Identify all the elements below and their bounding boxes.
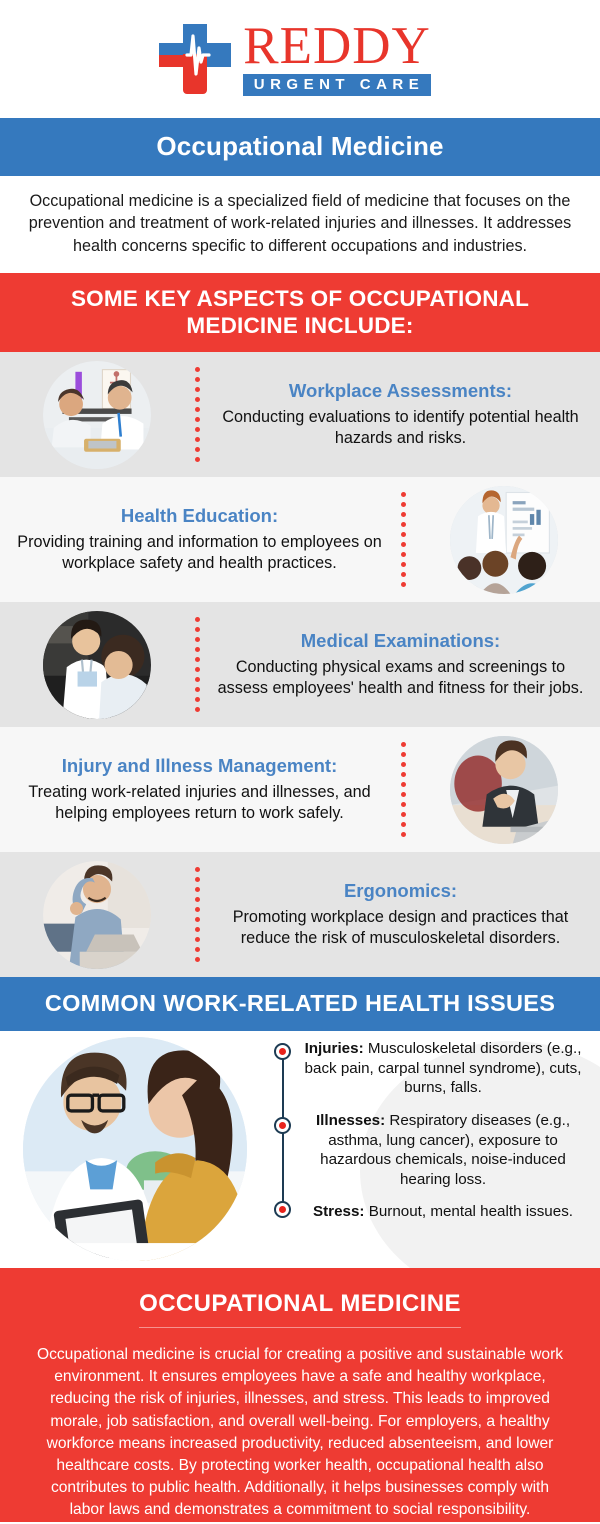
doctor-patient-consultation-photo bbox=[23, 1037, 247, 1261]
brand-name: REDDY bbox=[243, 22, 431, 72]
issues-photo-cell bbox=[0, 1031, 270, 1261]
issues-section-heading: COMMON WORK-RELATED HEALTH ISSUES bbox=[0, 977, 600, 1031]
issue-text: Burnout, mental health issues. bbox=[364, 1203, 573, 1220]
feature-text-cell: Medical Examinations: Conducting physica… bbox=[205, 630, 596, 699]
feature-photo-cell bbox=[411, 736, 596, 844]
feature-body: Promoting workplace design and practices… bbox=[211, 907, 590, 949]
intro-paragraph: Occupational medicine is a specialized f… bbox=[0, 176, 600, 273]
timeline-node-icon bbox=[274, 1043, 291, 1060]
health-education-photo bbox=[450, 486, 558, 594]
feature-photo-cell bbox=[411, 486, 596, 594]
feature-text-cell: Workplace Assessments: Conducting evalua… bbox=[205, 380, 596, 449]
dotted-divider bbox=[395, 490, 411, 590]
ekg-line-icon bbox=[157, 22, 233, 96]
feature-photo-cell bbox=[4, 361, 189, 469]
dotted-divider bbox=[395, 740, 411, 840]
issues-list: Injuries: Musculoskeletal disorders (e.g… bbox=[270, 1031, 600, 1236]
feature-row: Injury and Illness Management: Treating … bbox=[0, 727, 600, 852]
page-title: Occupational Medicine bbox=[0, 118, 600, 176]
feature-row: Medical Examinations: Conducting physica… bbox=[0, 602, 600, 727]
list-item: Stress: Burnout, mental health issues. bbox=[296, 1202, 590, 1221]
dotted-divider bbox=[189, 865, 205, 965]
injury-management-photo bbox=[450, 736, 558, 844]
issues-timeline bbox=[270, 1039, 296, 1236]
ergonomics-photo bbox=[43, 861, 151, 969]
issue-label: Illnesses: bbox=[316, 1112, 385, 1129]
feature-title: Health Education: bbox=[10, 505, 389, 527]
feature-title: Medical Examinations: bbox=[211, 630, 590, 652]
feature-photo-cell bbox=[4, 611, 189, 719]
header-logo-bar: REDDY URGENT CARE bbox=[0, 0, 600, 118]
feature-row: Workplace Assessments: Conducting evalua… bbox=[0, 352, 600, 477]
dotted-divider bbox=[189, 365, 205, 465]
timeline-node-icon bbox=[274, 1201, 291, 1218]
feature-text-cell: Health Education: Providing training and… bbox=[4, 505, 395, 574]
summary-section: OCCUPATIONAL MEDICINE Occupational medic… bbox=[0, 1268, 600, 1522]
feature-row: Health Education: Providing training and… bbox=[0, 477, 600, 602]
feature-row: Ergonomics: Promoting workplace design a… bbox=[0, 852, 600, 977]
dotted-divider bbox=[189, 615, 205, 715]
medical-cross-ekg-icon bbox=[157, 22, 233, 96]
brand-tagline: URGENT CARE bbox=[243, 74, 431, 96]
timeline-node-icon bbox=[274, 1117, 291, 1134]
feature-body: Conducting evaluations to identify poten… bbox=[211, 407, 590, 449]
summary-body: Occupational medicine is crucial for cre… bbox=[34, 1344, 566, 1521]
issue-label: Stress: bbox=[313, 1203, 365, 1220]
workplace-assessment-photo bbox=[43, 361, 151, 469]
feature-text-cell: Injury and Illness Management: Treating … bbox=[4, 755, 395, 824]
list-item: Illnesses: Respiratory diseases (e.g., a… bbox=[296, 1111, 590, 1189]
medical-examination-photo bbox=[43, 611, 151, 719]
summary-title: OCCUPATIONAL MEDICINE bbox=[139, 1290, 461, 1328]
feature-text-cell: Ergonomics: Promoting workplace design a… bbox=[205, 880, 596, 949]
list-item: Injuries: Musculoskeletal disorders (e.g… bbox=[296, 1039, 590, 1097]
issues-section: Injuries: Musculoskeletal disorders (e.g… bbox=[0, 1031, 600, 1268]
feature-body: Providing training and information to em… bbox=[10, 532, 389, 574]
feature-title: Workplace Assessments: bbox=[211, 380, 590, 402]
issue-label: Injuries: bbox=[305, 1040, 364, 1057]
feature-title: Injury and Illness Management: bbox=[10, 755, 389, 777]
feature-body: Conducting physical exams and screenings… bbox=[211, 657, 590, 699]
brand-logo: REDDY URGENT CARE bbox=[157, 22, 431, 96]
feature-title: Ergonomics: bbox=[211, 880, 590, 902]
feature-body: Treating work-related injuries and illne… bbox=[10, 782, 389, 824]
feature-photo-cell bbox=[4, 861, 189, 969]
aspects-section-heading: SOME KEY ASPECTS OF OCCUPATIONAL MEDICIN… bbox=[0, 273, 600, 352]
